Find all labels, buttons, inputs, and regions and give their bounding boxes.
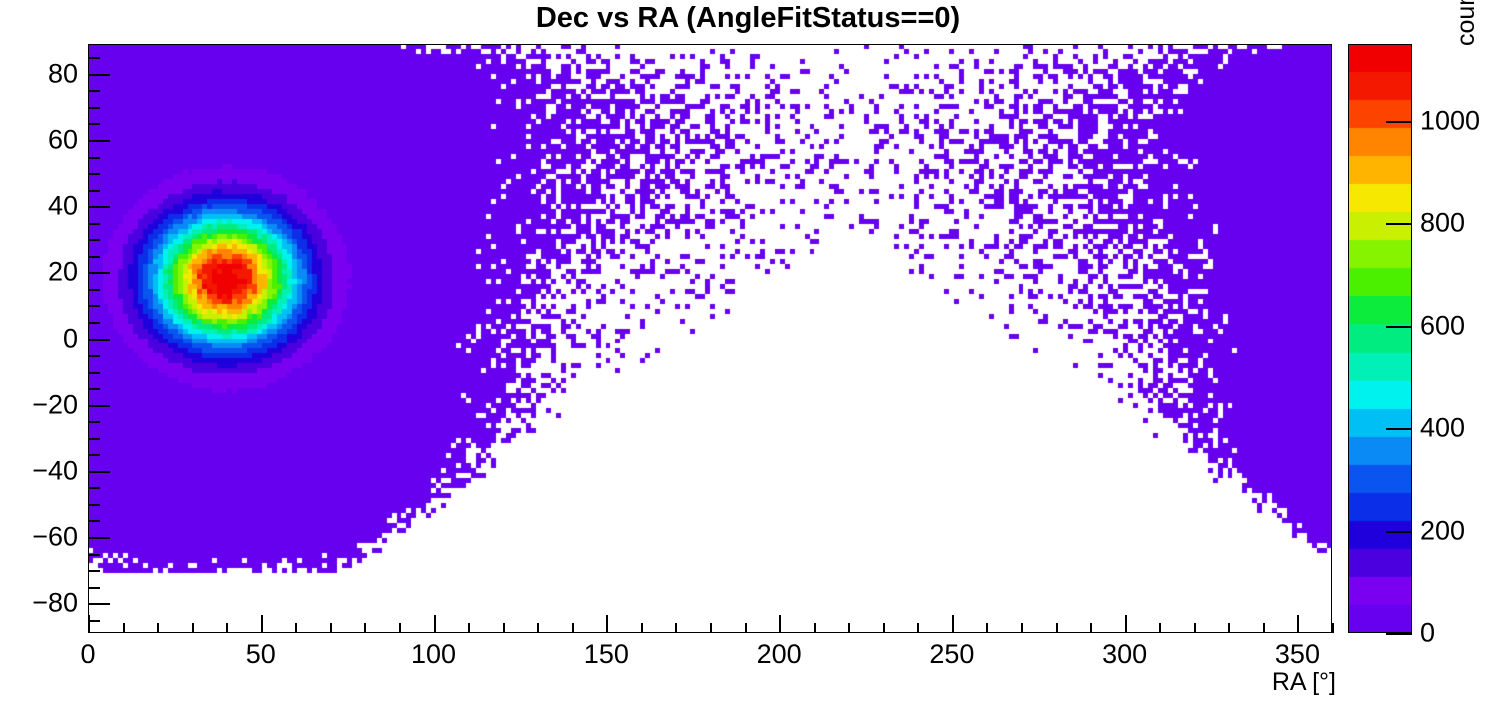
page-title: Dec vs RA (AngleFitStatus==0) [0, 2, 1496, 35]
color-scale-title: count [1452, 0, 1481, 46]
x-axis-major-tick [606, 615, 608, 633]
x-axis-minor-tick [986, 623, 988, 633]
color-scale-tick [1386, 633, 1412, 635]
color-scale-tick-label: 600 [1420, 310, 1465, 341]
x-axis-tick-label: 300 [1102, 639, 1147, 670]
y-axis-minor-tick [88, 587, 100, 589]
x-axis-minor-tick [814, 623, 816, 633]
y-axis-minor-tick [88, 388, 100, 390]
color-scale-tick-label: 0 [1420, 618, 1435, 649]
y-axis-minor-tick [88, 223, 100, 225]
y-axis-tick-label: −60 [32, 522, 78, 553]
y-axis-minor-tick [88, 504, 100, 506]
y-axis-major-tick [88, 140, 110, 142]
x-axis-minor-tick [503, 623, 505, 633]
y-axis-minor-tick [88, 107, 100, 109]
x-axis-minor-tick [1090, 623, 1092, 633]
x-axis-major-tick [952, 615, 954, 633]
x-axis-tick-label: 150 [584, 639, 629, 670]
x-axis-minor-tick [641, 623, 643, 633]
x-axis-minor-tick [226, 623, 228, 633]
color-scale-tick-label: 400 [1420, 413, 1465, 444]
y-axis-major-tick [88, 471, 110, 473]
x-axis-major-tick [1125, 615, 1127, 633]
color-scale-tick [1386, 121, 1412, 123]
x-axis-minor-tick [675, 623, 677, 633]
x-axis-major-tick [261, 615, 263, 633]
x-axis-minor-tick [399, 623, 401, 633]
y-axis-tick-label: 60 [48, 124, 78, 155]
x-axis-minor-tick [123, 623, 125, 633]
x-axis-tick-label: 50 [246, 639, 276, 670]
y-axis-major-tick [88, 206, 110, 208]
y-axis-tick-label: −20 [32, 389, 78, 420]
y-axis-tick-label: −80 [32, 588, 78, 619]
x-axis-minor-tick [1021, 623, 1023, 633]
y-axis-major-tick [88, 603, 110, 605]
y-axis-minor-tick [88, 173, 100, 175]
y-axis-tick-label: 20 [48, 257, 78, 288]
y-axis-minor-tick [88, 570, 100, 572]
x-axis-title: RA [°] [1272, 668, 1336, 697]
y-axis-major-tick [88, 339, 110, 341]
x-axis-minor-tick [330, 623, 332, 633]
y-axis-minor-tick [88, 554, 100, 556]
x-axis-minor-tick [1228, 623, 1230, 633]
x-axis-minor-tick [192, 623, 194, 633]
color-scale-tick-label: 1000 [1420, 105, 1480, 136]
x-axis-minor-tick [917, 623, 919, 633]
x-axis-minor-tick [710, 623, 712, 633]
y-axis-minor-tick [88, 157, 100, 159]
x-axis-minor-tick [537, 623, 539, 633]
y-axis-minor-tick [88, 438, 100, 440]
y-axis-minor-tick [88, 239, 100, 241]
y-axis-minor-tick [88, 454, 100, 456]
x-axis-minor-tick [745, 623, 747, 633]
color-scale-tick [1386, 428, 1412, 430]
color-scale-tick [1386, 326, 1412, 328]
y-axis-minor-tick [88, 57, 100, 59]
y-axis-minor-tick [88, 305, 100, 307]
x-axis-tick-label: 350 [1275, 639, 1320, 670]
x-axis-minor-tick [572, 623, 574, 633]
plot-canvas-root: Dec vs RA (AngleFitStatus==0) 0501001502… [0, 0, 1496, 722]
y-axis-minor-tick [88, 355, 100, 357]
x-axis-minor-tick [157, 623, 159, 633]
y-axis-major-tick [88, 537, 110, 539]
y-axis-tick-label: 40 [48, 191, 78, 222]
y-axis-minor-tick [88, 487, 100, 489]
x-axis-major-tick [434, 615, 436, 633]
y-axis-minor-tick [88, 322, 100, 324]
y-axis-minor-tick [88, 372, 100, 374]
color-scale-frame [1348, 44, 1412, 633]
x-axis-minor-tick [1263, 623, 1265, 633]
x-axis-minor-tick [468, 623, 470, 633]
y-axis-tick-label: 80 [48, 58, 78, 89]
color-scale-tick-label: 800 [1420, 208, 1465, 239]
x-axis-minor-tick [364, 623, 366, 633]
y-axis-minor-tick [88, 256, 100, 258]
y-axis-minor-tick [88, 123, 100, 125]
x-axis-minor-tick [295, 623, 297, 633]
x-axis-minor-tick [883, 623, 885, 633]
x-axis-minor-tick [848, 623, 850, 633]
color-scale-tick [1386, 531, 1412, 533]
y-axis-minor-tick [88, 190, 100, 192]
x-axis-major-tick [779, 615, 781, 633]
x-axis-major-tick [1297, 615, 1299, 633]
color-scale-tick-label: 200 [1420, 515, 1465, 546]
y-axis-major-tick [88, 405, 110, 407]
y-axis-tick-label: 0 [63, 323, 78, 354]
x-axis-minor-tick [1159, 623, 1161, 633]
x-axis-minor-tick [1332, 623, 1334, 633]
x-axis-tick-label: 250 [929, 639, 974, 670]
color-scale-tick [1386, 223, 1412, 225]
y-axis-minor-tick [88, 520, 100, 522]
x-axis-tick-label: 0 [80, 639, 95, 670]
x-axis-major-tick [88, 615, 90, 633]
y-axis-major-tick [88, 272, 110, 274]
x-axis-tick-label: 100 [411, 639, 456, 670]
y-axis-minor-tick [88, 289, 100, 291]
x-axis-tick-label: 200 [757, 639, 802, 670]
x-axis-minor-tick [1194, 623, 1196, 633]
y-axis-minor-tick [88, 90, 100, 92]
histogram-2d [88, 44, 1332, 633]
y-axis-major-tick [88, 74, 110, 76]
x-axis-minor-tick [1056, 623, 1058, 633]
y-axis-minor-tick [88, 620, 100, 622]
y-axis-minor-tick [88, 421, 100, 423]
y-axis-tick-label: −40 [32, 455, 78, 486]
